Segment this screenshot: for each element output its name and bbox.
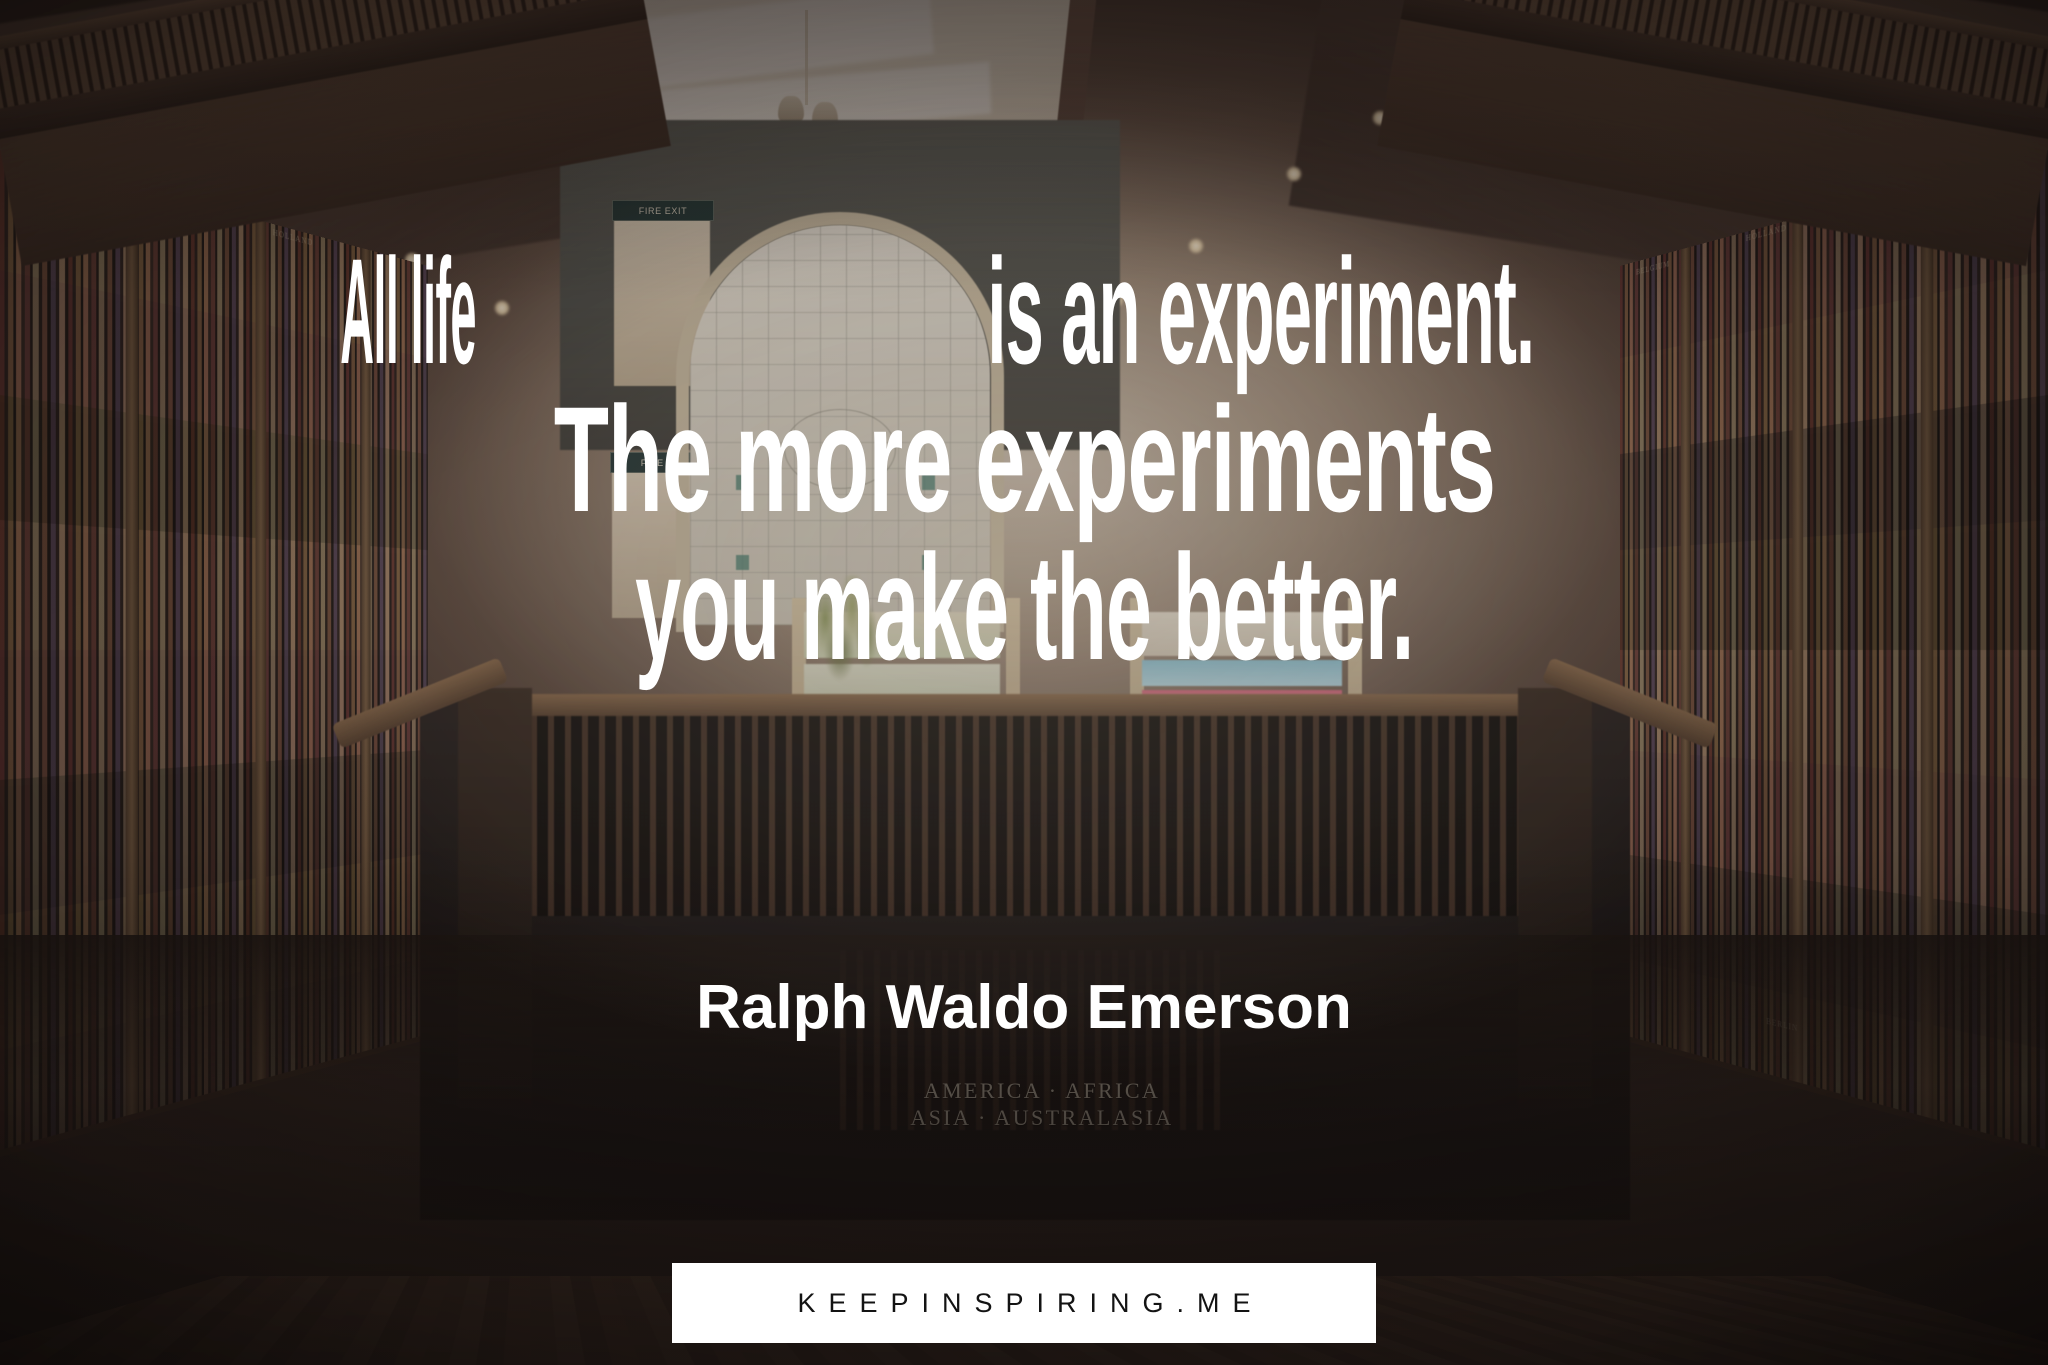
quote-card: FIRE EXIT FIRE EXIT BELGIUM	[0, 0, 2048, 1365]
quote-line-4: you make the better.	[635, 534, 1413, 682]
site-badge[interactable]: KEEPINSPIRING.ME	[672, 1263, 1376, 1343]
quote-line-3: The more experiments	[553, 386, 1494, 534]
quote-line-1: All life	[341, 238, 477, 386]
quote-text: All life is an experiment. The more expe…	[0, 238, 2048, 681]
text-overlay: All life is an experiment. The more expe…	[0, 0, 2048, 1365]
quote-author: Ralph Waldo Emerson	[0, 972, 2048, 1043]
site-badge-label: KEEPINSPIRING.ME	[784, 1288, 1263, 1319]
quote-line-2: is an experiment.	[987, 238, 1534, 386]
